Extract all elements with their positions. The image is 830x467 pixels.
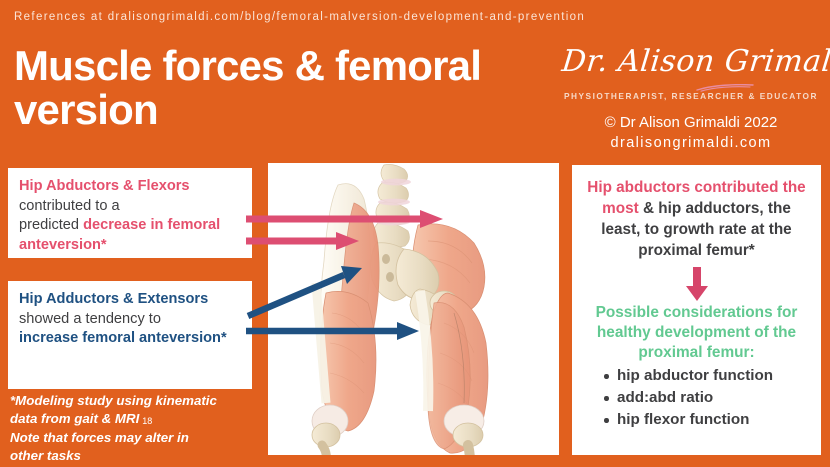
- page-title: Muscle forces & femoral version: [14, 44, 484, 132]
- left-callout-1-body-1: contributed to a: [19, 198, 120, 214]
- right-panel-inner: Hip abductors contributed the most & hip…: [572, 165, 821, 431]
- left-callout-2-text: Hip Adductors & Extensors showed a tende…: [8, 281, 252, 349]
- left-callout-2-heading: Hip Adductors & Extensors: [19, 291, 208, 307]
- left-callout-1-text: Hip Abductors & Flexors contributed to a…: [8, 168, 252, 255]
- list-item: hip abductor function: [604, 365, 811, 387]
- down-arrow-icon: [684, 267, 710, 301]
- reference-line: References at dralisongrimaldi.com/blog/…: [14, 11, 585, 23]
- left-callout-2-emphasis: increase femoral anteversion*: [19, 330, 227, 346]
- anatomy-illustration: [268, 163, 559, 455]
- brand-block: Dr. Alison Grimaldi PHYSIOTHERAPIST, RES…: [562, 46, 820, 153]
- brand-copyright: © Dr Alison Grimaldi 2022: [562, 113, 820, 133]
- left-callout-2-body-1: showed a tendency to: [19, 311, 161, 327]
- footnote-reference-number: 18: [139, 416, 152, 426]
- list-item: hip flexor function: [604, 409, 811, 431]
- right-panel-heading: Possible considerations for healthy deve…: [582, 303, 811, 363]
- slide-canvas: References at dralisongrimaldi.com/blog/…: [0, 0, 830, 467]
- footnote-line-1: *Modeling study using kinematic: [10, 393, 217, 408]
- left-callout-1-heading: Hip Abductors & Flexors: [19, 178, 190, 194]
- footnote-line-2: data from gait & MRI: [10, 411, 139, 426]
- footnote: *Modeling study using kinematic data fro…: [10, 392, 260, 464]
- right-panel-top-text: Hip abductors contributed the most & hip…: [582, 177, 811, 261]
- left-callout-adductors-extensors: Hip Adductors & Extensors showed a tende…: [8, 281, 252, 389]
- brand-swoosh-icon: [695, 79, 755, 86]
- left-callout-1-body-2: predicted: [19, 217, 83, 233]
- right-conclusions-panel: Hip abductors contributed the most & hip…: [572, 165, 821, 455]
- right-panel-bullet-list: hip abductor function add:abd ratio hip …: [582, 365, 811, 431]
- left-thigh-group: [312, 184, 379, 455]
- brand-script-logo: Dr. Alison Grimaldi: [560, 46, 821, 78]
- footnote-line-4: other tasks: [10, 448, 81, 463]
- brand-website: dralisongrimaldi.com: [562, 133, 820, 153]
- list-item: add:abd ratio: [604, 387, 811, 409]
- footnote-line-3: Note that forces may alter in: [10, 430, 189, 445]
- brand-tagline: PHYSIOTHERAPIST, RESEARCHER & EDUCATOR: [562, 91, 820, 101]
- left-callout-abductors-flexors: Hip Abductors & Flexors contributed to a…: [8, 168, 252, 258]
